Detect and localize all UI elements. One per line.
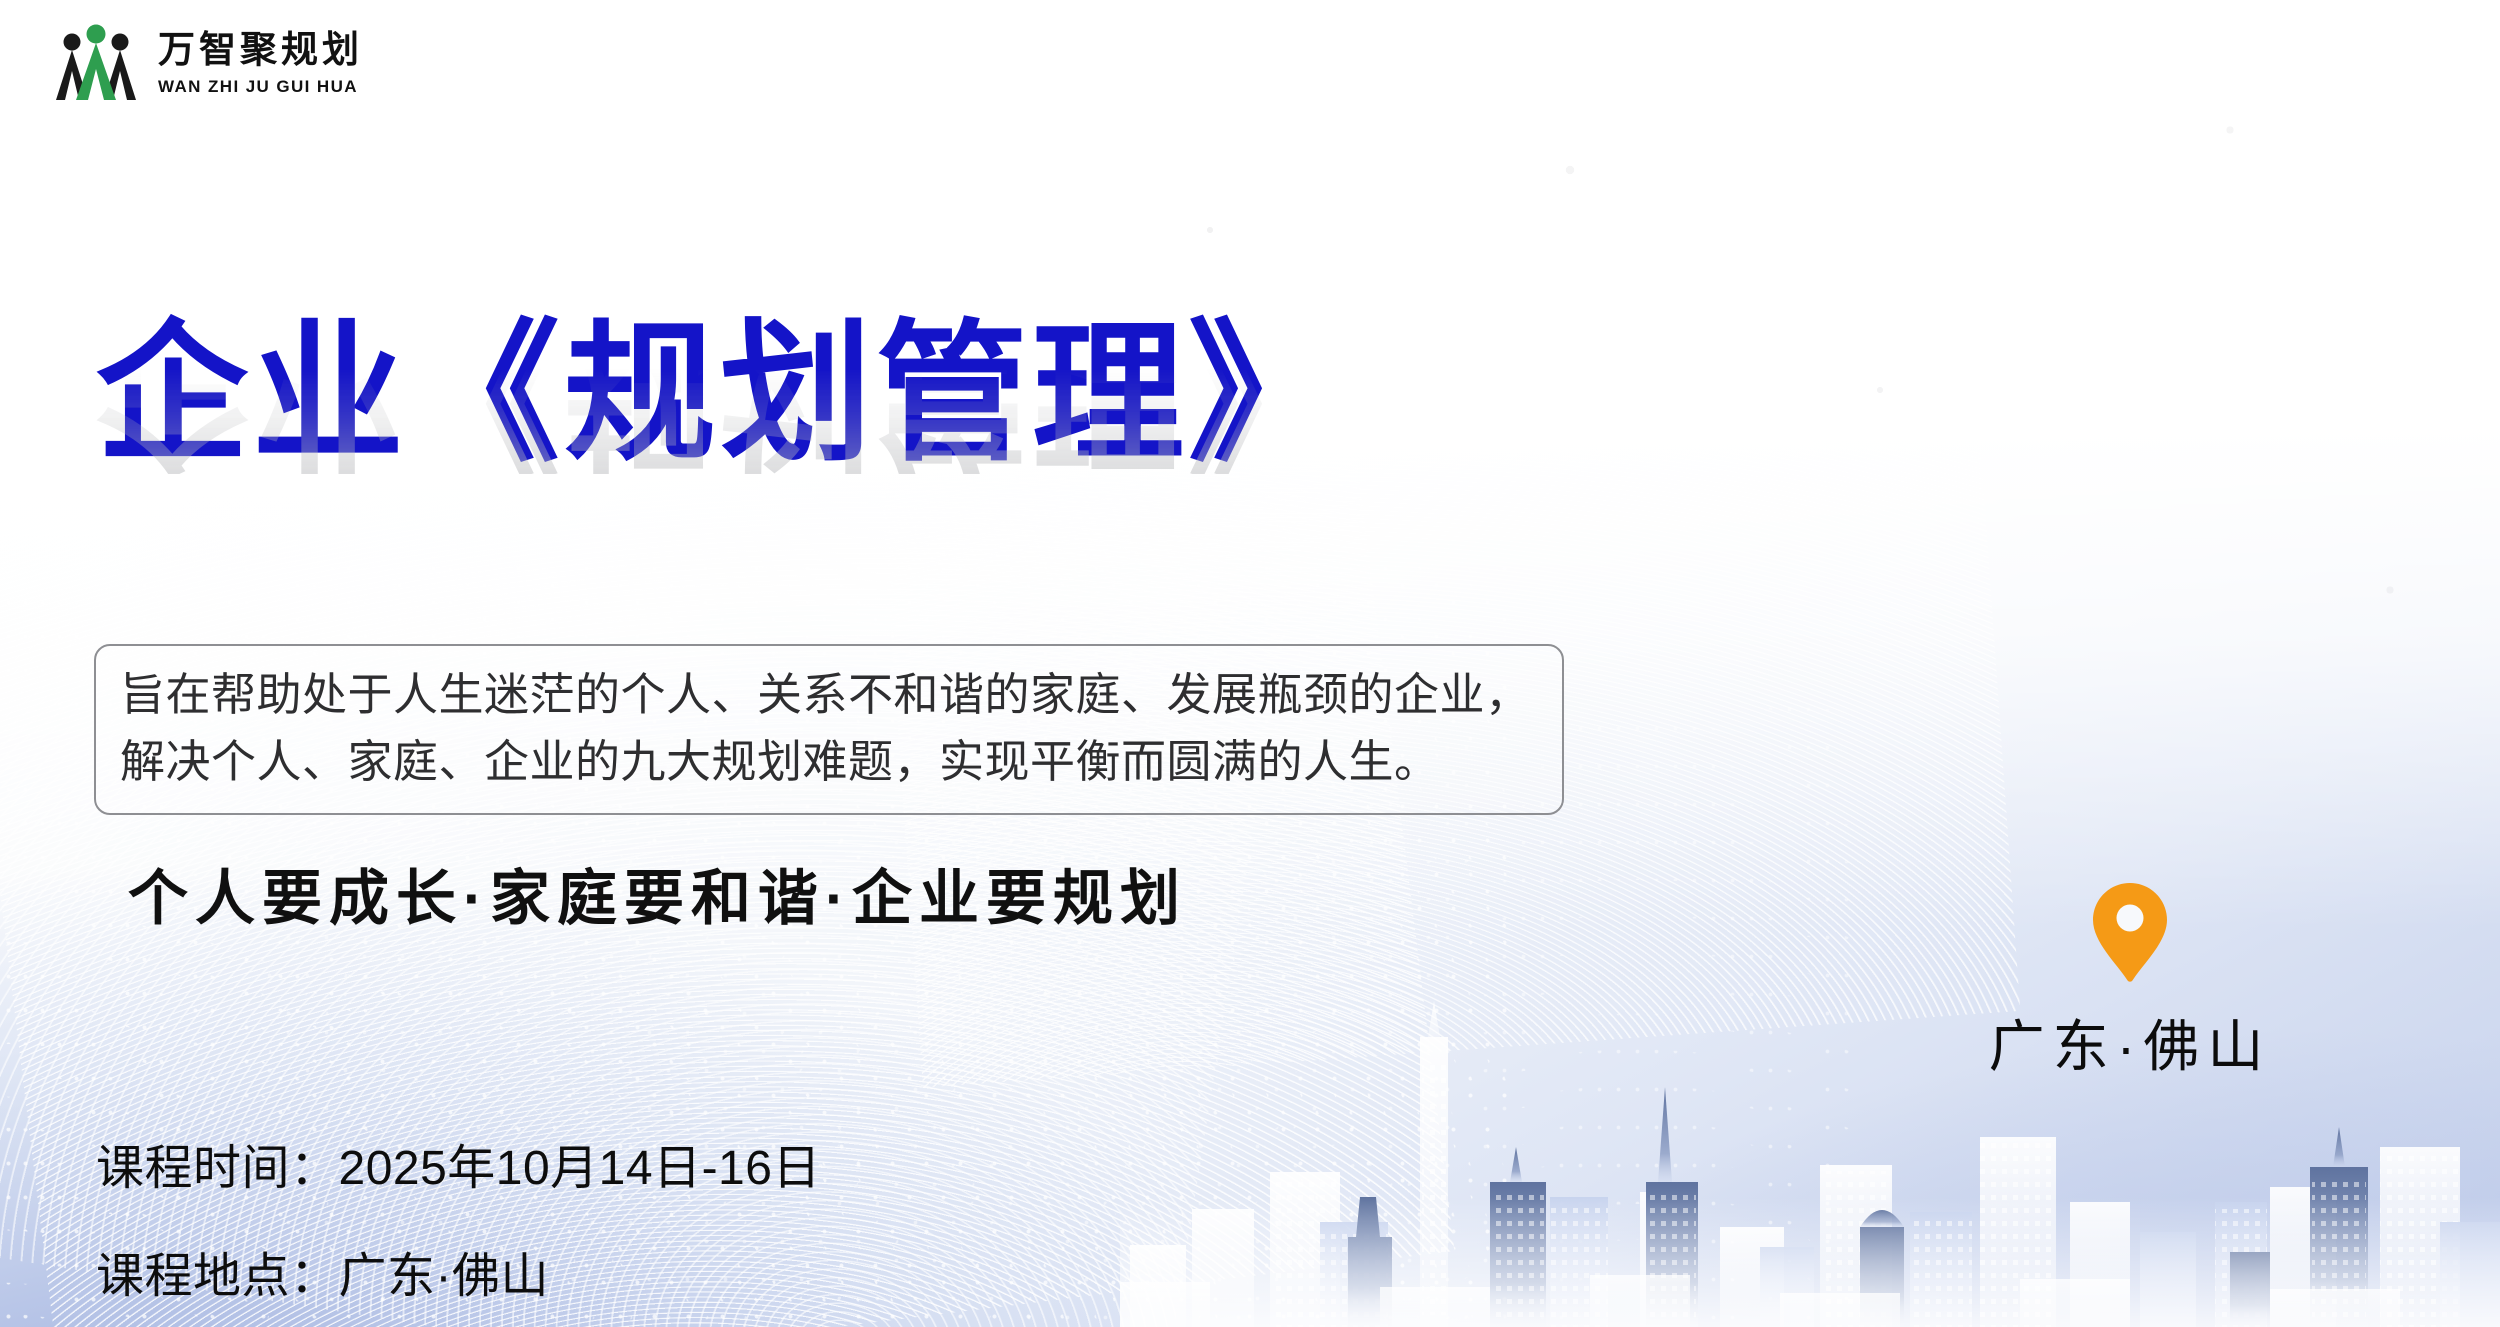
location-badge: 广东·佛山 (1960, 880, 2300, 1083)
tagline: 个人要成长·家庭要和谐·企业要规划 (128, 850, 1187, 937)
map-pin-icon (2089, 880, 2171, 984)
three-people-m-logo-icon (52, 22, 140, 104)
brand-name-cn: 万智聚规划 (158, 32, 363, 69)
headline-block: 企业《规划管理》 企业《规划管理》 (96, 318, 1656, 626)
course-time-row: 课程时间：2025年10月14日-16日 (96, 1128, 821, 1198)
brand-logo: 万智聚规划 WAN ZHI JU GUI HUA (52, 22, 363, 104)
description-line-1: 旨在帮助处于人生迷茫的个人、关系不和谐的家庭、发展瓶颈的企业， (120, 662, 1538, 729)
description-line-2: 解决个人、家庭、企业的九大规划难题，实现平衡而圆满的人生。 (120, 729, 1538, 796)
course-place-row: 课程地点：广东·佛山 (96, 1236, 821, 1306)
promo-banner: 万智聚规划 WAN ZHI JU GUI HUA 企业《规划管理》 企业《规划管… (0, 0, 2500, 1327)
description-box: 旨在帮助处于人生迷茫的个人、关系不和谐的家庭、发展瓶颈的企业， 解决个人、家庭、… (94, 644, 1564, 815)
brand-logo-text: 万智聚规划 WAN ZHI JU GUI HUA (158, 32, 363, 95)
page-title-reflection: 企业《规划管理》 (96, 322, 1656, 474)
location-city-label: 广东·佛山 (1989, 1002, 2272, 1083)
course-meta: 课程时间：2025年10月14日-16日 课程地点：广东·佛山 (96, 1128, 821, 1306)
brand-name-pinyin: WAN ZHI JU GUI HUA (158, 78, 363, 95)
